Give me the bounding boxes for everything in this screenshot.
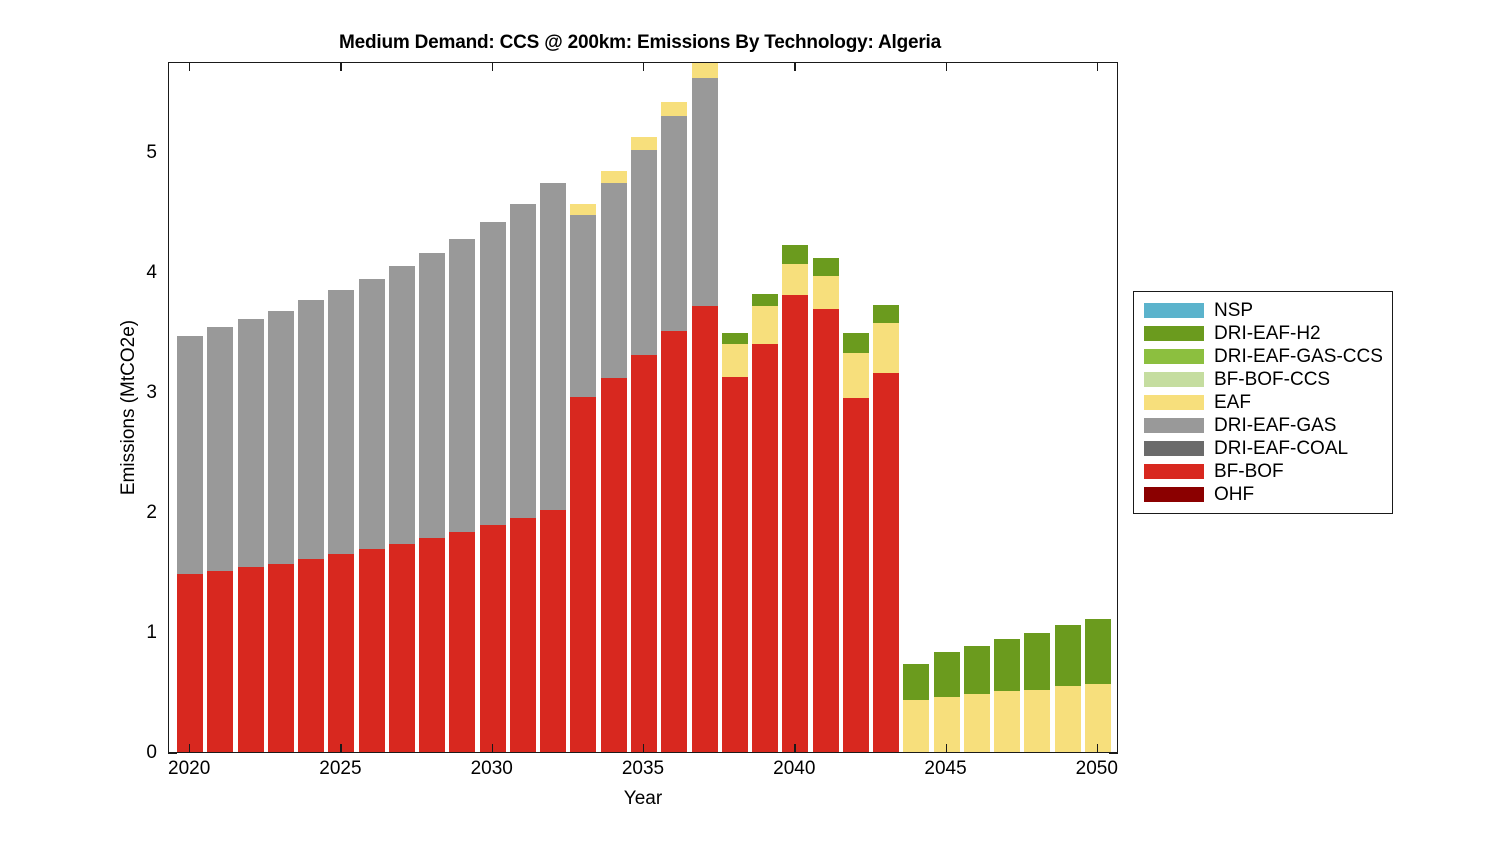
legend-swatch-bf-bof: [1144, 464, 1204, 479]
legend-item-nsp[interactable]: NSP: [1144, 299, 1383, 322]
bar-2032[interactable]: [540, 63, 566, 752]
x-tick-mark-2025: [340, 744, 341, 753]
bar-segment-eaf-2050: [1085, 684, 1111, 752]
chart-title: Medium Demand: CCS @ 200km: Emissions By…: [160, 32, 1120, 54]
bar-segment-bf-bof-2033: [570, 397, 596, 752]
x-tick-mark-top-2045: [946, 62, 947, 71]
bar-segment-dri-eaf-h2-2041: [813, 258, 839, 276]
legend-item-bf-bof[interactable]: BF-BOF: [1144, 460, 1383, 483]
plot-area-box: [168, 62, 1118, 753]
x-tick-mark-top-2040: [794, 62, 795, 71]
bar-segment-bf-bof-2038: [722, 377, 748, 752]
bar-2028[interactable]: [419, 63, 445, 752]
bar-segment-dri-eaf-h2-2039: [752, 294, 778, 306]
bar-segment-bf-bof-2025: [328, 554, 354, 752]
bar-segment-dri-eaf-gas-2033: [570, 215, 596, 397]
bar-segment-bf-bof-2035: [631, 355, 657, 752]
legend-item-dri-eaf-h2[interactable]: DRI-EAF-H2: [1144, 322, 1383, 345]
chart-legend: NSPDRI-EAF-H2DRI-EAF-GAS-CCSBF-BOF-CCSEA…: [1133, 291, 1393, 514]
legend-item-dri-eaf-gas-ccs[interactable]: DRI-EAF-GAS-CCS: [1144, 345, 1383, 368]
x-tick-mark-top-2020: [189, 62, 190, 71]
bar-segment-dri-eaf-h2-2045: [934, 652, 960, 696]
bar-2031[interactable]: [510, 63, 536, 752]
bar-segment-dri-eaf-gas-2032: [540, 183, 566, 509]
bar-segment-eaf-2036: [661, 102, 687, 116]
legend-label-dri-eaf-gas: DRI-EAF-GAS: [1214, 416, 1336, 435]
bar-segment-eaf-2040: [782, 264, 808, 295]
bar-segment-bf-bof-2042: [843, 398, 869, 752]
legend-swatch-dri-eaf-gas: [1144, 418, 1204, 433]
y-tick-label-5: 5: [146, 142, 157, 164]
bar-2049[interactable]: [1055, 63, 1081, 752]
bar-segment-dri-eaf-gas-2037: [692, 78, 718, 306]
bar-segment-dri-eaf-h2-2049: [1055, 625, 1081, 686]
x-tick-label-2050: 2050: [1076, 758, 1118, 780]
bar-2025[interactable]: [328, 63, 354, 752]
bar-2042[interactable]: [843, 63, 869, 752]
bar-segment-dri-eaf-gas-2021: [207, 327, 233, 571]
bar-segment-eaf-2035: [631, 137, 657, 150]
bar-segment-bf-bof-2034: [601, 378, 627, 752]
bar-segment-bf-bof-2020: [177, 574, 203, 752]
bar-segment-dri-eaf-h2-2046: [964, 646, 990, 694]
bar-2048[interactable]: [1024, 63, 1050, 752]
bar-segment-dri-eaf-gas-2026: [359, 279, 385, 549]
bar-2040[interactable]: [782, 63, 808, 752]
x-tick-label-2040: 2040: [773, 758, 815, 780]
bar-segment-dri-eaf-h2-2040: [782, 245, 808, 264]
y-tick-mark-0: [168, 753, 177, 754]
bar-segment-eaf-2033: [570, 204, 596, 215]
bar-segment-eaf-2048: [1024, 690, 1050, 752]
x-tick-mark-top-2035: [643, 62, 644, 71]
plot-area: [169, 63, 1117, 752]
legend-label-dri-eaf-coal: DRI-EAF-COAL: [1214, 439, 1348, 458]
legend-swatch-eaf: [1144, 395, 1204, 410]
bar-2029[interactable]: [449, 63, 475, 752]
bar-2039[interactable]: [752, 63, 778, 752]
bar-segment-dri-eaf-gas-2025: [328, 290, 354, 554]
bar-segment-dri-eaf-gas-2028: [419, 253, 445, 539]
bar-segment-bf-bof-2030: [480, 525, 506, 752]
y-tick-label-1: 1: [146, 622, 157, 644]
legend-label-eaf: EAF: [1214, 393, 1251, 412]
bar-segment-dri-eaf-h2-2038: [722, 333, 748, 344]
legend-item-eaf[interactable]: EAF: [1144, 391, 1383, 414]
bar-segment-eaf-2042: [843, 353, 869, 399]
legend-swatch-bf-bof-ccs: [1144, 372, 1204, 387]
bar-segment-dri-eaf-gas-2027: [389, 266, 415, 544]
bar-2041[interactable]: [813, 63, 839, 752]
y-axis-label: Emissions (MtCO2e): [118, 62, 140, 753]
bar-segment-bf-bof-2029: [449, 532, 475, 752]
legend-label-bf-bof-ccs: BF-BOF-CCS: [1214, 370, 1330, 389]
bar-2027[interactable]: [389, 63, 415, 752]
bar-segment-dri-eaf-gas-2031: [510, 204, 536, 518]
bar-segment-dri-eaf-gas-2029: [449, 239, 475, 533]
legend-swatch-nsp: [1144, 303, 1204, 318]
legend-label-nsp: NSP: [1214, 301, 1253, 320]
bar-segment-dri-eaf-h2-2042: [843, 333, 869, 352]
bar-2021[interactable]: [207, 63, 233, 752]
x-tick-mark-2050: [1097, 744, 1098, 753]
bar-2043[interactable]: [873, 63, 899, 752]
bar-segment-bf-bof-2032: [540, 510, 566, 752]
x-tick-label-2045: 2045: [924, 758, 966, 780]
x-tick-mark-2030: [492, 744, 493, 753]
x-tick-mark-top-2025: [340, 62, 341, 71]
bar-segment-bf-bof-2037: [692, 306, 718, 752]
bar-2045[interactable]: [934, 63, 960, 752]
legend-swatch-ohf: [1144, 487, 1204, 502]
legend-swatch-dri-eaf-h2: [1144, 326, 1204, 341]
x-tick-mark-2020: [189, 744, 190, 753]
bar-segment-bf-bof-2023: [268, 564, 294, 752]
bar-segment-eaf-2043: [873, 323, 899, 373]
bar-2020[interactable]: [177, 63, 203, 752]
bar-2024[interactable]: [298, 63, 324, 752]
x-tick-mark-top-2050: [1097, 62, 1098, 71]
bar-2046[interactable]: [964, 63, 990, 752]
bar-segment-eaf-2037: [692, 63, 718, 77]
bar-segment-dri-eaf-h2-2050: [1085, 619, 1111, 684]
bar-segment-dri-eaf-h2-2043: [873, 305, 899, 323]
bar-2036[interactable]: [661, 63, 687, 752]
bar-2022[interactable]: [238, 63, 264, 752]
bar-2034[interactable]: [601, 63, 627, 752]
bar-segment-eaf-2038: [722, 344, 748, 376]
chart-figure: Medium Demand: CCS @ 200km: Emissions By…: [0, 0, 1500, 844]
bar-segment-eaf-2049: [1055, 686, 1081, 752]
bar-2037[interactable]: [692, 63, 718, 752]
y-tick-label-4: 4: [146, 262, 157, 284]
legend-item-bf-bof-ccs[interactable]: BF-BOF-CCS: [1144, 368, 1383, 391]
bar-segment-dri-eaf-gas-2035: [631, 150, 657, 355]
bar-segment-bf-bof-2022: [238, 567, 264, 752]
bar-2035[interactable]: [631, 63, 657, 752]
bar-2044[interactable]: [903, 63, 929, 752]
y-tick-mark-right-0: [1109, 753, 1118, 754]
bar-segment-dri-eaf-h2-2047: [994, 639, 1020, 691]
x-axis-label: Year: [168, 788, 1118, 810]
x-tick-label-2030: 2030: [471, 758, 513, 780]
x-tick-label-2025: 2025: [319, 758, 361, 780]
legend-item-ohf[interactable]: OHF: [1144, 483, 1383, 506]
bar-segment-dri-eaf-h2-2044: [903, 664, 929, 700]
bar-segment-eaf-2041: [813, 276, 839, 310]
bar-segment-eaf-2044: [903, 700, 929, 752]
bar-segment-dri-eaf-gas-2034: [601, 183, 627, 377]
bar-segment-dri-eaf-gas-2022: [238, 319, 264, 567]
y-tick-label-2: 2: [146, 502, 157, 524]
bar-segment-bf-bof-2039: [752, 344, 778, 752]
legend-item-dri-eaf-coal[interactable]: DRI-EAF-COAL: [1144, 437, 1383, 460]
bar-segment-dri-eaf-h2-2048: [1024, 633, 1050, 689]
x-tick-mark-2040: [794, 744, 795, 753]
bar-2047[interactable]: [994, 63, 1020, 752]
bar-segment-dri-eaf-gas-2023: [268, 311, 294, 564]
bar-segment-bf-bof-2024: [298, 559, 324, 752]
bar-segment-bf-bof-2040: [782, 295, 808, 752]
legend-label-bf-bof: BF-BOF: [1214, 462, 1284, 481]
x-tick-mark-2035: [643, 744, 644, 753]
x-tick-label-2035: 2035: [622, 758, 664, 780]
bar-2030[interactable]: [480, 63, 506, 752]
y-tick-label-3: 3: [146, 382, 157, 404]
legend-swatch-dri-eaf-coal: [1144, 441, 1204, 456]
legend-label-dri-eaf-h2: DRI-EAF-H2: [1214, 324, 1321, 343]
bar-segment-dri-eaf-gas-2036: [661, 116, 687, 331]
bar-segment-bf-bof-2041: [813, 309, 839, 752]
bar-segment-bf-bof-2021: [207, 571, 233, 752]
bar-2026[interactable]: [359, 63, 385, 752]
legend-item-dri-eaf-gas[interactable]: DRI-EAF-GAS: [1144, 414, 1383, 437]
bar-segment-bf-bof-2043: [873, 373, 899, 752]
bar-segment-bf-bof-2026: [359, 549, 385, 752]
bar-segment-dri-eaf-gas-2024: [298, 300, 324, 559]
bar-2050[interactable]: [1085, 63, 1111, 752]
bar-segment-eaf-2046: [964, 694, 990, 752]
x-tick-mark-2045: [946, 744, 947, 753]
bar-segment-dri-eaf-gas-2020: [177, 336, 203, 575]
x-tick-label-2020: 2020: [168, 758, 210, 780]
bar-segment-eaf-2047: [994, 691, 1020, 752]
bar-segment-eaf-2039: [752, 306, 778, 344]
bar-segment-bf-bof-2028: [419, 538, 445, 752]
bar-segment-dri-eaf-gas-2030: [480, 222, 506, 526]
legend-swatch-dri-eaf-gas-ccs: [1144, 349, 1204, 364]
bar-2038[interactable]: [722, 63, 748, 752]
bar-2033[interactable]: [570, 63, 596, 752]
legend-label-dri-eaf-gas-ccs: DRI-EAF-GAS-CCS: [1214, 347, 1383, 366]
x-tick-mark-top-2030: [492, 62, 493, 71]
bar-2023[interactable]: [268, 63, 294, 752]
legend-label-ohf: OHF: [1214, 485, 1254, 504]
bar-segment-bf-bof-2031: [510, 518, 536, 752]
bar-segment-bf-bof-2027: [389, 544, 415, 752]
bar-segment-eaf-2034: [601, 171, 627, 183]
bar-segment-bf-bof-2036: [661, 331, 687, 752]
y-tick-label-0: 0: [146, 742, 157, 764]
